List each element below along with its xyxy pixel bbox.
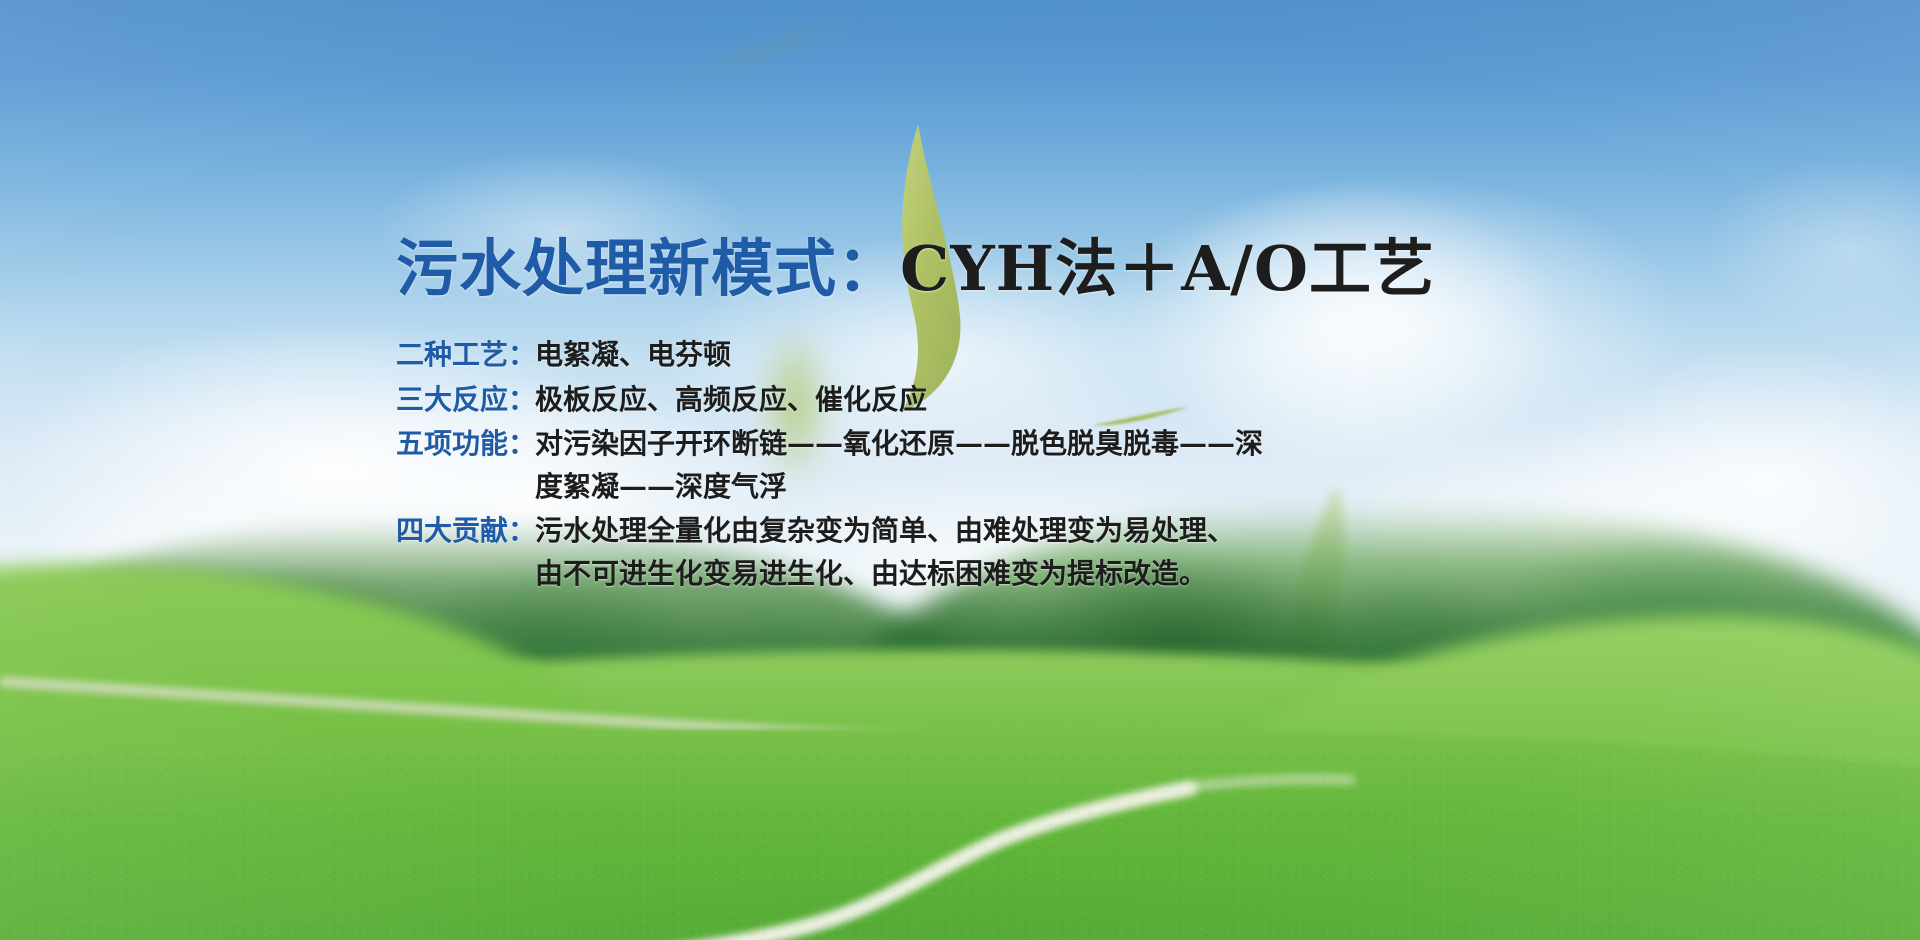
bullet-label: 四大贡献： bbox=[396, 510, 535, 553]
list-item: 二种工艺： 电絮凝、电芬顿 bbox=[396, 334, 1576, 377]
bullet-label: 二种工艺： bbox=[396, 334, 535, 377]
bullet-body: 污水处理全量化由复杂变为简单、由难处理变为易处理、 由不可进生化变易进生化、由达… bbox=[535, 510, 1576, 595]
bullet-body-line1: 极板反应、高频反应、催化反应 bbox=[535, 383, 927, 416]
grass-texture bbox=[0, 750, 1920, 940]
slide-title: 污水处理新模式：CYH法＋A/O工艺 bbox=[396, 238, 1576, 300]
bullet-body-line2: 由不可进生化变易进生化、由达标困难变为提标改造。 bbox=[535, 553, 1576, 596]
bullet-body: 对污染因子开环断链——氧化还原——脱色脱臭脱毒——深 度絮凝——深度气浮 bbox=[535, 423, 1576, 508]
bullet-body-line1: 污水处理全量化由复杂变为简单、由难处理变为易处理、 bbox=[535, 514, 1235, 547]
list-item: 三大反应： 极板反应、高频反应、催化反应 bbox=[396, 379, 1576, 422]
bullet-body: 电絮凝、电芬顿 bbox=[535, 334, 1576, 377]
bullet-label: 五项功能： bbox=[396, 423, 535, 466]
bullet-body: 极板反应、高频反应、催化反应 bbox=[535, 379, 1576, 422]
bullet-list: 二种工艺： 电絮凝、电芬顿 三大反应： 极板反应、高频反应、催化反应 五项功能：… bbox=[396, 334, 1576, 595]
list-item: 五项功能： 对污染因子开环断链——氧化还原——脱色脱臭脱毒——深 度絮凝——深度… bbox=[396, 423, 1576, 508]
title-dark-part: CYH法＋A/O工艺 bbox=[900, 232, 1435, 305]
bullet-body-line1: 电絮凝、电芬顿 bbox=[535, 338, 731, 371]
bullet-label: 三大反应： bbox=[396, 379, 535, 422]
list-item: 四大贡献： 污水处理全量化由复杂变为简单、由难处理变为易处理、 由不可进生化变易… bbox=[396, 510, 1576, 595]
bullet-body-line2: 度絮凝——深度气浮 bbox=[535, 466, 1576, 509]
title-blue-part: 污水处理新模式： bbox=[396, 232, 900, 305]
bullet-body-line1: 对污染因子开环断链——氧化还原——脱色脱臭脱毒——深 bbox=[535, 427, 1263, 460]
slide-canvas: 污水处理新模式：CYH法＋A/O工艺 二种工艺： 电絮凝、电芬顿 三大反应： 极… bbox=[0, 0, 1920, 940]
slide-content: 污水处理新模式：CYH法＋A/O工艺 二种工艺： 电絮凝、电芬顿 三大反应： 极… bbox=[396, 238, 1576, 597]
